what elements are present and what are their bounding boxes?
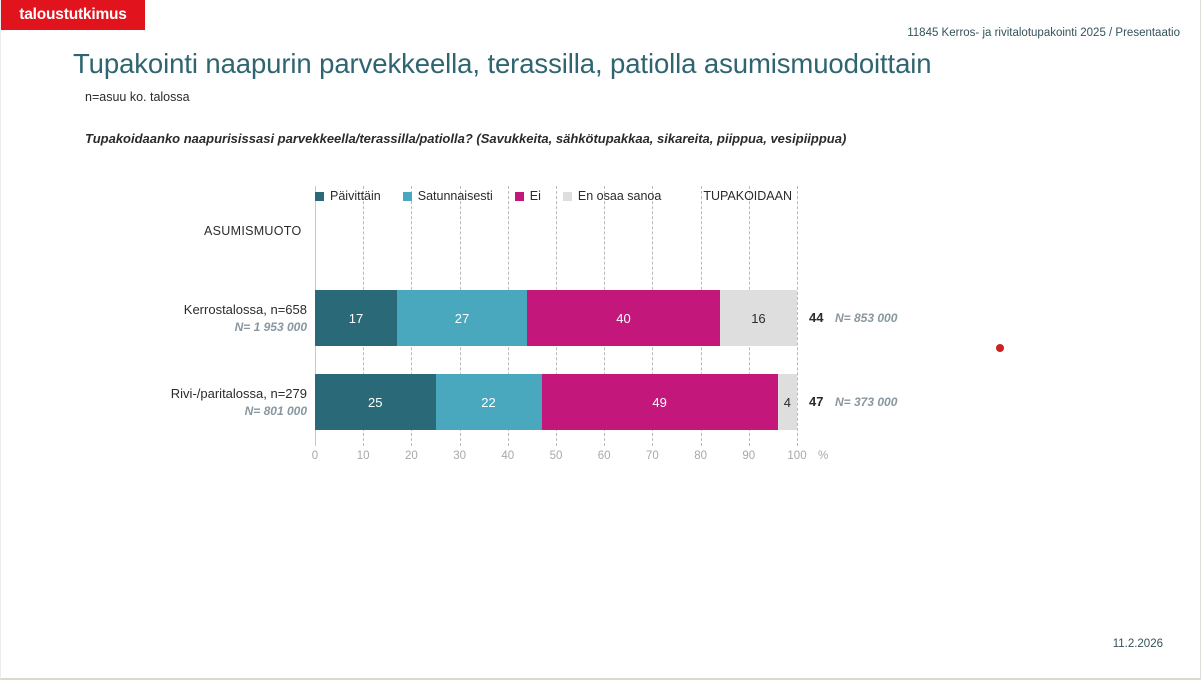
bar-row: Kerrostalossa, n=658N= 1 953 00017274016…: [315, 290, 797, 346]
x-axis-tick: 30: [453, 450, 466, 462]
summary-value: 44: [809, 310, 823, 325]
axis-group-label: ASUMISMUOTO: [204, 224, 302, 238]
chart-legend: Päivittäin Satunnaisesti Ei En osaa sano…: [315, 188, 792, 204]
legend-swatch-satunnaisesti: [403, 192, 412, 201]
legend-swatch-paivittain: [315, 192, 324, 201]
bar-segment: 17: [315, 290, 397, 346]
x-axis-unit: %: [818, 450, 828, 462]
survey-question: Tupakoidaanko naapurisissasi parvekkeell…: [85, 131, 846, 146]
legend-swatch-en-osaa-sanoa: [563, 192, 572, 201]
x-axis-tick: 90: [742, 450, 755, 462]
bar-segment: 4: [778, 374, 797, 430]
summary-population: N= 373 000: [835, 395, 897, 409]
bar-category-label: Kerrostalossa, n=658N= 1 953 000: [37, 302, 307, 334]
x-axis-tick: 70: [646, 450, 659, 462]
red-dot-marker: [996, 344, 1004, 352]
bar-category-population: N= 1 953 000: [37, 320, 307, 334]
x-axis-tick: 80: [694, 450, 707, 462]
bar-segment: 22: [436, 374, 542, 430]
stacked-bar-chart: Kerrostalossa, n=658N= 1 953 00017274016…: [315, 186, 797, 446]
bar-category-name: Rivi-/paritalossa, n=279: [37, 386, 307, 401]
x-axis-tick: 10: [357, 450, 370, 462]
x-axis-tick: 0: [312, 450, 318, 462]
bar-segment: 27: [397, 290, 527, 346]
legend-item-satunnaisesti: Satunnaisesti: [403, 189, 493, 203]
summary-population: N= 853 000: [835, 311, 897, 325]
bar-category-population: N= 801 000: [37, 404, 307, 418]
legend-swatch-ei: [515, 192, 524, 201]
bar-segment: 40: [527, 290, 720, 346]
sample-note: n=asuu ko. talossa: [85, 90, 190, 104]
legend-label-en-osaa-sanoa: En osaa sanoa: [578, 189, 661, 203]
footer-date: 11.2.2026: [1113, 638, 1163, 650]
x-axis: 0102030405060708090100: [315, 450, 797, 468]
slide-canvas: taloustutkimus 11845 Kerros- ja rivitalo…: [0, 0, 1201, 680]
legend-label-ei: Ei: [530, 189, 541, 203]
x-axis-tick: 20: [405, 450, 418, 462]
legend-item-ei: Ei: [515, 189, 541, 203]
bar-segment: 16: [720, 290, 797, 346]
x-axis-tick: 40: [501, 450, 514, 462]
bar-row: Rivi-/paritalossa, n=279N= 801 000252249…: [315, 374, 797, 430]
bar-category-label: Rivi-/paritalossa, n=279N= 801 000: [37, 386, 307, 418]
x-axis-tick: 60: [598, 450, 611, 462]
bar-segment: 49: [542, 374, 778, 430]
summary-value: 47: [809, 394, 823, 409]
page-title: Tupakointi naapurin parvekkeella, terass…: [73, 48, 932, 80]
legend-label-paivittain: Päivittäin: [330, 189, 381, 203]
legend-item-paivittain: Päivittäin: [315, 189, 381, 203]
summary-column-header: TUPAKOIDAAN: [703, 189, 792, 203]
x-axis-tick: 100: [787, 450, 806, 462]
legend-item-en-osaa-sanoa: En osaa sanoa: [563, 189, 661, 203]
gridline: [797, 186, 798, 446]
legend-label-satunnaisesti: Satunnaisesti: [418, 189, 493, 203]
x-axis-tick: 50: [550, 450, 563, 462]
document-reference: 11845 Kerros- ja rivitalotupakointi 2025…: [907, 27, 1180, 39]
taloustutkimus-logo: taloustutkimus: [1, 0, 145, 30]
logo-text: taloustutkimus: [19, 6, 126, 24]
bar-category-name: Kerrostalossa, n=658: [37, 302, 307, 317]
bar-segment: 25: [315, 374, 436, 430]
